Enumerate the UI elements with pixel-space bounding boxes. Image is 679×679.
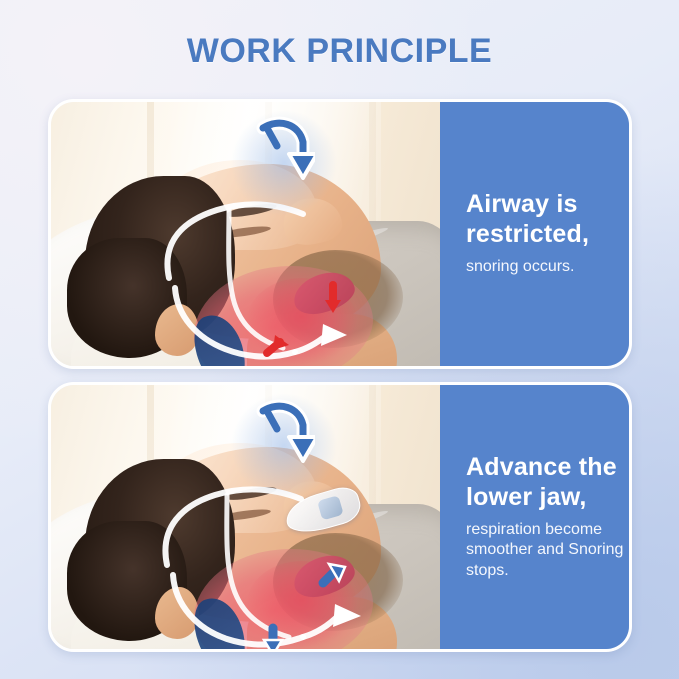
card-airway-restricted: Airway is restricted, snoring occurs. bbox=[48, 99, 632, 369]
card-heading: Airway is restricted, bbox=[466, 190, 629, 249]
ear bbox=[155, 587, 199, 639]
curved-down-arrow-icon bbox=[253, 397, 315, 467]
card-heading: Advance the lower jaw, bbox=[466, 453, 629, 512]
card-body: respiration become smoother and Snoring … bbox=[466, 520, 629, 580]
work-principle-infographic: WORK PRINCIPLE bbox=[0, 0, 679, 679]
card-advance-jaw: Advance the lower jaw, respiration becom… bbox=[48, 382, 632, 652]
curved-down-arrow-icon bbox=[253, 114, 315, 184]
page-title: WORK PRINCIPLE bbox=[0, 32, 679, 71]
panel-advance-jaw: Advance the lower jaw, respiration becom… bbox=[440, 385, 629, 649]
card-body: snoring occurs. bbox=[466, 257, 629, 277]
photo-advance-jaw bbox=[51, 385, 440, 649]
panel-airway-restricted: Airway is restricted, snoring occurs. bbox=[440, 102, 629, 366]
photo-airway-restricted bbox=[51, 102, 440, 366]
ear bbox=[155, 304, 199, 356]
